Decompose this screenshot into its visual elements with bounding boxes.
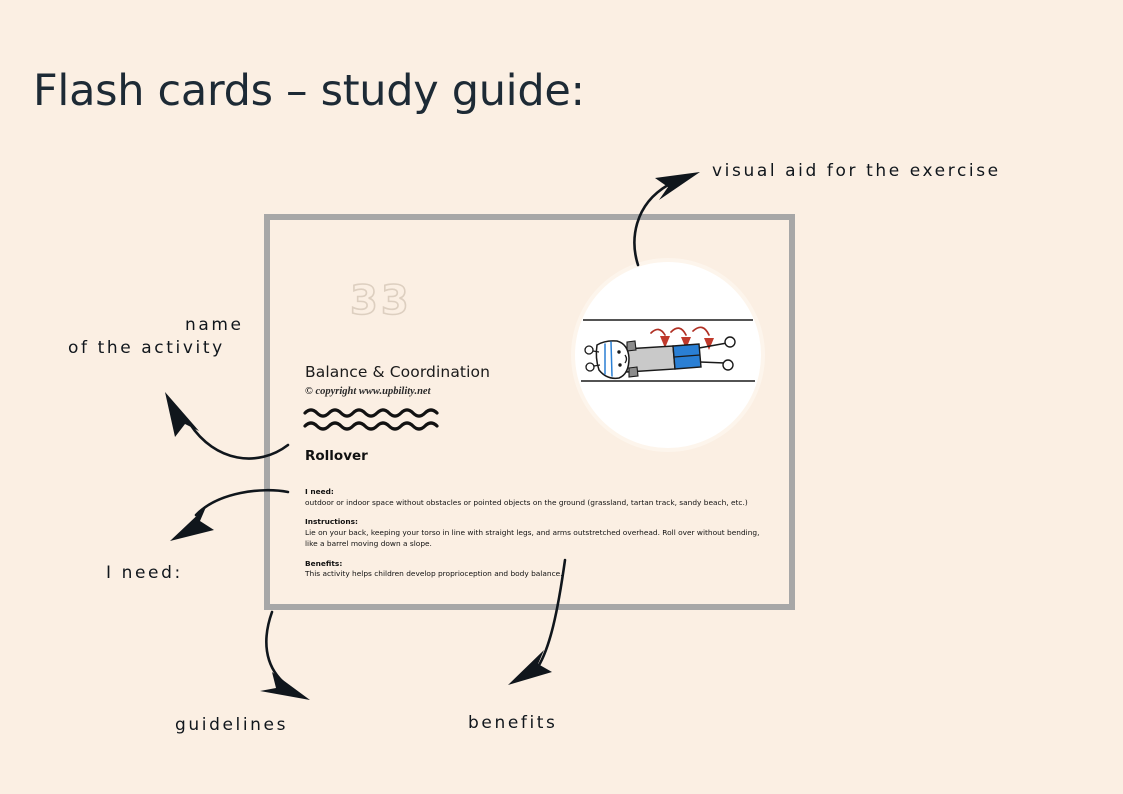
card-section-i-need: I need: outdoor or indoor space without … <box>305 487 770 508</box>
exercise-illustration <box>575 262 761 448</box>
section-label: I need: <box>305 487 770 498</box>
card-category-title: Balance & Coordination <box>305 363 490 381</box>
annotation-name-line2: of the activity <box>68 338 225 358</box>
annotation-visual-aid: visual aid for the exercise <box>712 161 1001 181</box>
wave-divider-icon <box>290 405 475 435</box>
annotation-name-line1: name <box>185 315 244 335</box>
card-activity-name: Rollover <box>305 448 368 464</box>
rollover-illustration-icon <box>575 262 761 448</box>
section-text: outdoor or indoor space without obstacle… <box>305 498 770 509</box>
arrow-guidelines <box>260 612 310 700</box>
card-section-benefits: Benefits: This activity helps children d… <box>305 559 770 580</box>
section-label: Instructions: <box>305 517 770 528</box>
section-text: This activity helps children develop pro… <box>305 569 770 580</box>
annotation-benefits: benefits <box>468 713 558 733</box>
slide-canvas: Flash cards – study guide: 33 Balance & … <box>0 0 1123 794</box>
section-text: Lie on your back, keeping your torso in … <box>305 528 770 549</box>
annotation-i-need: I need: <box>106 563 183 583</box>
flash-card-content: 33 Balance & Coordination © copyright ww… <box>270 220 789 604</box>
section-label: Benefits: <box>305 559 770 570</box>
page-title: Flash cards – study guide: <box>33 66 585 116</box>
card-body-text: I need: outdoor or indoor space without … <box>305 487 770 580</box>
annotation-guidelines: guidelines <box>175 715 288 735</box>
card-section-instructions: Instructions: Lie on your back, keeping … <box>305 517 770 549</box>
flash-card[interactable]: 33 Balance & Coordination © copyright ww… <box>264 214 795 610</box>
card-copyright: © copyright www.upbility.net <box>305 386 431 397</box>
card-number: 33 <box>350 278 412 324</box>
